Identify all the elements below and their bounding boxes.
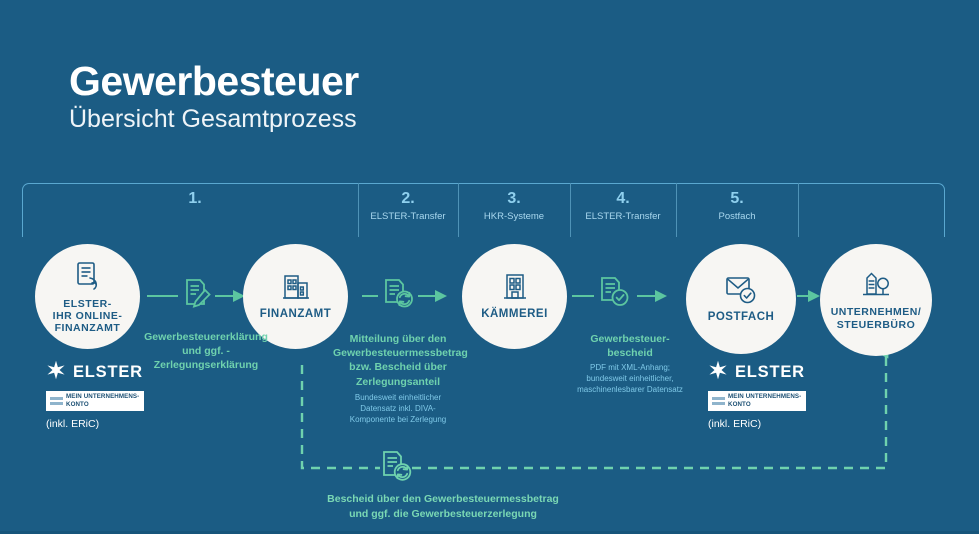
node-unternehmen-label: UNTERNEHMEN/STEUERBÜRO: [831, 306, 922, 330]
elster-star-icon: [46, 360, 66, 385]
badge-line-1: MEIN UNTERNEHMENS-: [66, 393, 139, 400]
office-building-icon: [279, 271, 313, 303]
infographic-canvas: Gewerbesteuer Übersicht Gesamtprozess 1.…: [0, 0, 979, 534]
brand-right-badge-text: MEIN UNTERNEHMENS- KONTO: [728, 393, 801, 409]
node-elster-finanzamt-label: ELSTER-IHR ONLINE-FINANZAMT: [53, 298, 123, 334]
badge-bars-icon: [50, 397, 63, 405]
brand-right-word: ELSTER: [735, 363, 805, 382]
badge-line-1-right: MEIN UNTERNEHMENS-: [728, 393, 801, 400]
connector-2-3-subtext: Bundesweit einheitlicherDatensatz inkl. …: [333, 392, 463, 426]
brand-right-row: ELSTER: [708, 360, 806, 385]
badge-line-2: KONTO: [66, 401, 89, 408]
town-hall-icon: [498, 271, 532, 303]
node-kaemmerei-label: KÄMMEREI: [481, 308, 548, 321]
tablet-hand-icon: [71, 259, 105, 293]
brand-left: ELSTER MEIN UNTERNEHMENS- KONTO (inkl. E…: [46, 360, 144, 430]
node-postfach-label: POSTFACH: [708, 311, 775, 324]
brand-left-badge: MEIN UNTERNEHMENS- KONTO: [46, 391, 144, 411]
brand-left-row: ELSTER: [46, 360, 144, 385]
node-postfach[interactable]: POSTFACH: [686, 244, 796, 354]
brand-left-note: (inkl. ERiC): [46, 418, 144, 430]
loop-document-refresh-icon: [376, 449, 416, 494]
node-kaemmerei[interactable]: KÄMMEREI: [462, 244, 567, 349]
document-pencil-icon: [178, 276, 216, 319]
building-tree-icon: [856, 269, 896, 301]
document-check-icon: [594, 274, 634, 317]
badge-bars-icon-right: [712, 397, 725, 405]
document-refresh-icon-2: [378, 276, 418, 319]
brand-left-badge-text: MEIN UNTERNEHMENS- KONTO: [66, 393, 139, 409]
elster-star-icon-right: [708, 360, 728, 385]
brand-left-word: ELSTER: [73, 363, 143, 382]
connector-2-3-text: Mitteilung über denGewerbesteuermessbetr…: [333, 332, 463, 389]
connector-3-4-text: Gewerbesteuer-bescheid: [565, 332, 695, 360]
connector-3-4-subtext: PDF mit XML-Anhang;bundesweit einheitlic…: [565, 362, 695, 396]
connector-1-2-text: Gewerbesteuererklärungund ggf. -Zerlegun…: [138, 330, 274, 373]
brand-right-badge: MEIN UNTERNEHMENS- KONTO: [708, 391, 806, 411]
node-finanzamt-label: FINANZAMT: [260, 308, 332, 321]
node-unternehmen[interactable]: UNTERNEHMEN/STEUERBÜRO: [820, 244, 932, 356]
feedback-loop-text: Bescheid über den Gewerbesteuermessbetra…: [278, 492, 608, 521]
envelope-check-icon: [721, 274, 761, 306]
brand-right: ELSTER MEIN UNTERNEHMENS- KONTO (inkl. E…: [708, 360, 806, 430]
badge-line-2-right: KONTO: [728, 401, 751, 408]
brand-right-note: (inkl. ERiC): [708, 418, 806, 430]
node-elster-finanzamt[interactable]: ELSTER-IHR ONLINE-FINANZAMT: [35, 244, 140, 349]
